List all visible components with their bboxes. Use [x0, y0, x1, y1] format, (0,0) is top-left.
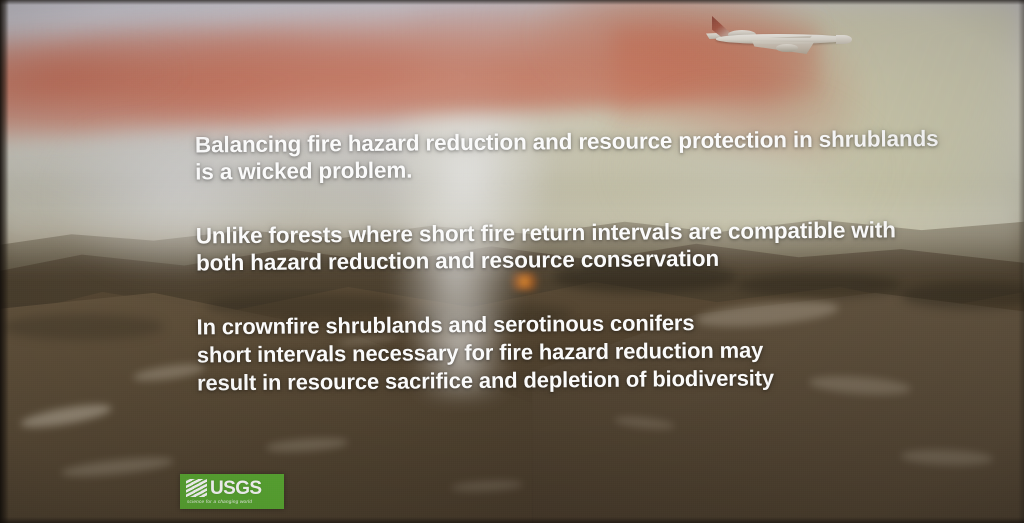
usgs-wordmark: USGS: [210, 479, 261, 498]
retardant-wisp: [0, 42, 246, 115]
usgs-logo-row: USGS: [186, 478, 279, 499]
usgs-striped-mark-icon: [186, 479, 207, 497]
usgs-logo: USGS science for a changing world: [180, 474, 284, 509]
caption-line: is a wicked problem.: [195, 152, 985, 186]
caption-paragraph-3: In crownfire shrublands and serotinous c…: [196, 307, 987, 398]
aircraft-nose: [836, 35, 852, 44]
caption-paragraph-2: Unlike forests where short fire return i…: [196, 216, 986, 277]
presentation-slide: Balancing fire hazard reduction and reso…: [0, 0, 1024, 523]
aircraft-engine-pod: [776, 44, 798, 52]
caption-line: both hazard reduction and resource conse…: [196, 243, 986, 277]
air-tanker-aircraft: [700, 14, 852, 58]
vegetation-clump: [0, 314, 164, 340]
usgs-tagline: science for a changing world: [186, 499, 279, 505]
slide-caption-text: Balancing fire hazard reduction and reso…: [195, 125, 987, 398]
caption-paragraph-1: Balancing fire hazard reduction and reso…: [195, 125, 985, 186]
